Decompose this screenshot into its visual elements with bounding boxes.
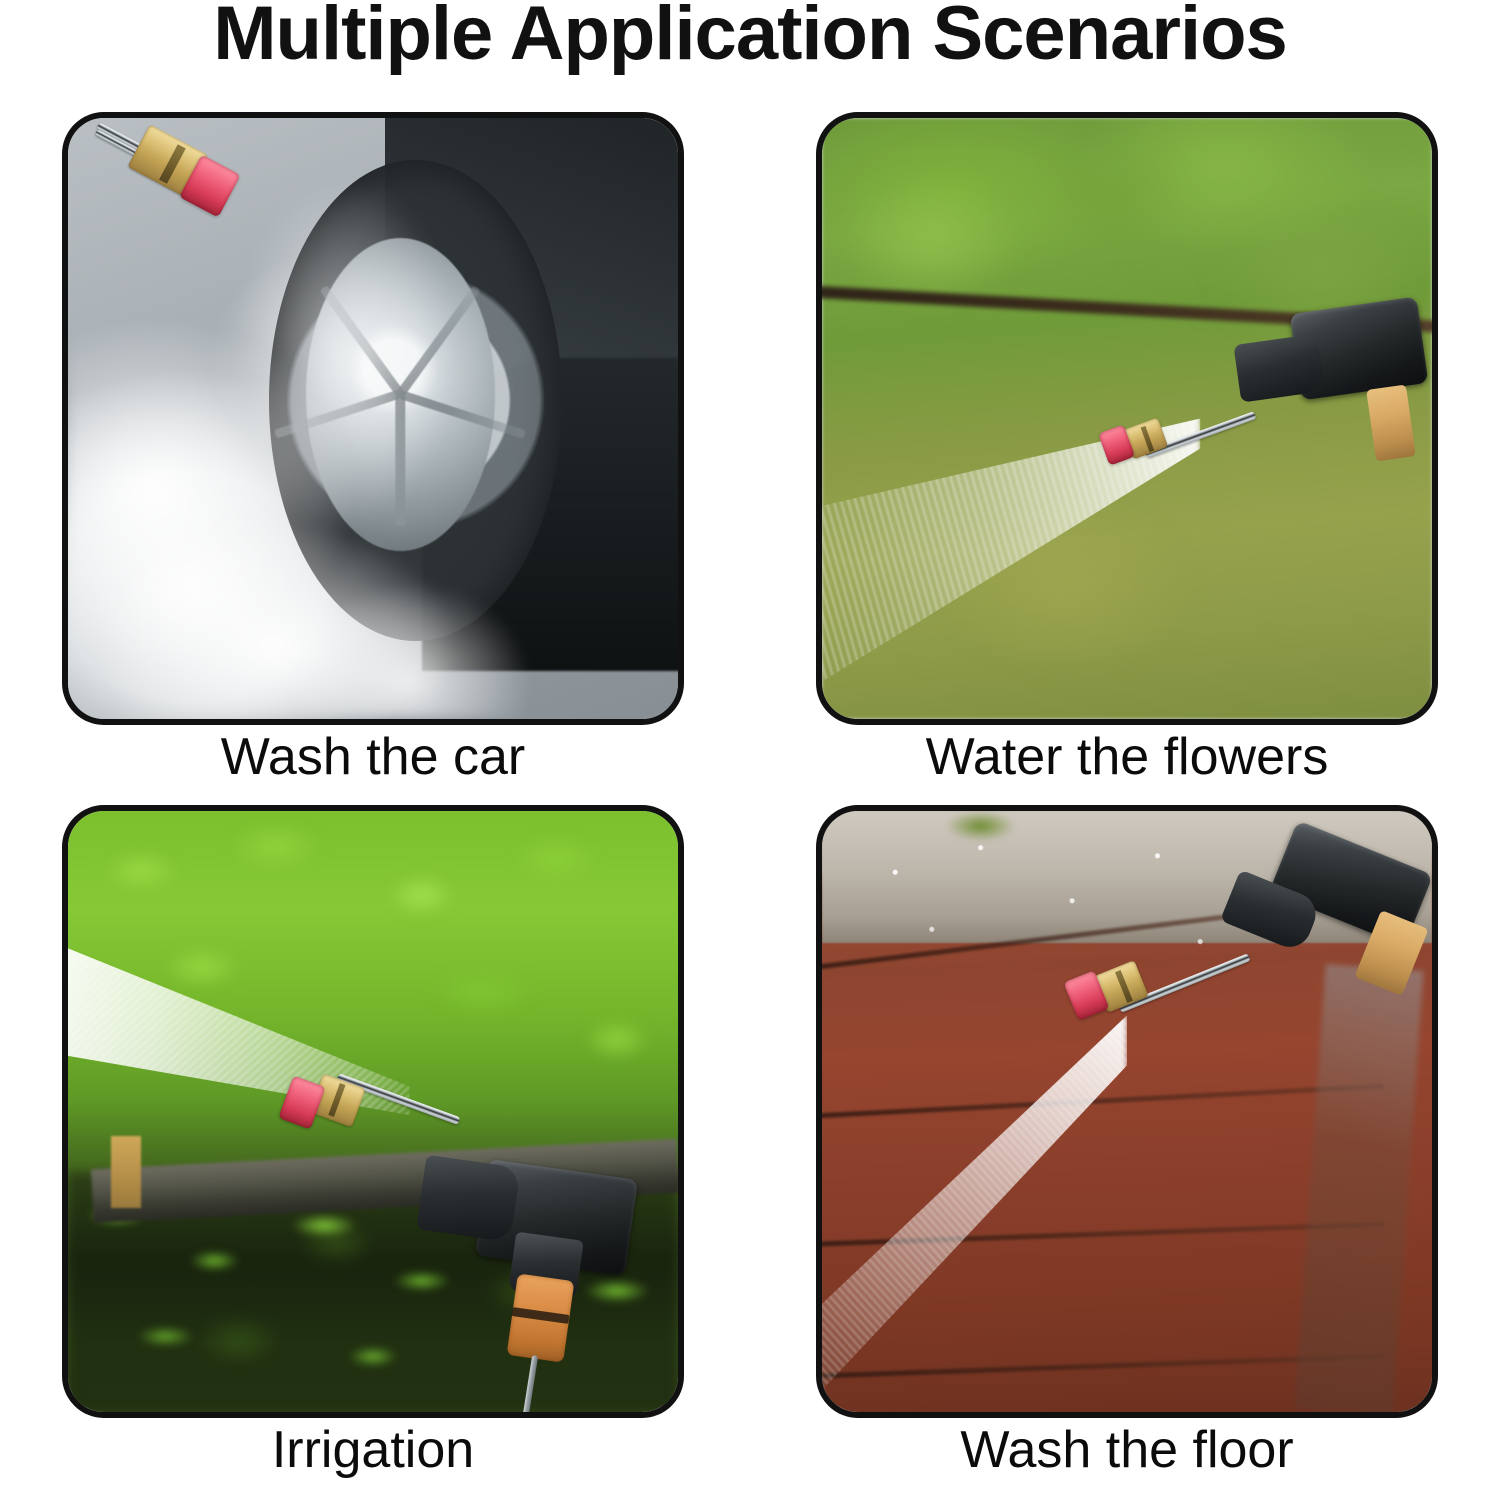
scenario-grid: Wash the car <box>62 112 1438 1432</box>
scenario-cell-irrigation: Irrigation <box>62 805 684 1432</box>
page-title: Multiple Application Scenarios <box>0 0 1500 72</box>
car-wash-scene <box>68 118 678 719</box>
infographic-page: Multiple Application Scenarios <box>0 0 1500 1500</box>
scenario-image-irrigation[interactable] <box>62 805 684 1418</box>
scenario-cell-wash-the-car: Wash the car <box>62 112 684 725</box>
scenario-cell-wash-the-floor: Wash the floor <box>816 805 1438 1432</box>
scenario-image-wash-the-floor[interactable] <box>816 805 1438 1418</box>
garden-bed-post <box>111 1136 142 1208</box>
scenario-image-water-the-flowers[interactable] <box>816 112 1438 725</box>
caption-water-the-flowers: Water the flowers <box>816 731 1438 783</box>
water-flowers-scene <box>822 118 1432 719</box>
sprayer-tool-irrigation <box>300 1027 678 1400</box>
caption-wash-the-floor: Wash the floor <box>816 1424 1438 1476</box>
irrigation-scene <box>68 811 678 1412</box>
caption-irrigation: Irrigation <box>62 1424 684 1476</box>
sprayer-tool-flowers <box>1127 286 1432 526</box>
sprayer-tool-floor <box>1066 823 1432 1099</box>
gun-nose-icon <box>416 1155 520 1242</box>
scenario-cell-water-the-flowers: Water the flowers <box>816 112 1438 725</box>
wash-floor-scene <box>822 811 1432 1412</box>
scenario-image-wash-the-car[interactable] <box>62 112 684 725</box>
caption-wash-the-car: Wash the car <box>62 731 684 783</box>
gun-handle-icon <box>1366 385 1415 462</box>
sprayer-tool-car <box>80 118 300 250</box>
